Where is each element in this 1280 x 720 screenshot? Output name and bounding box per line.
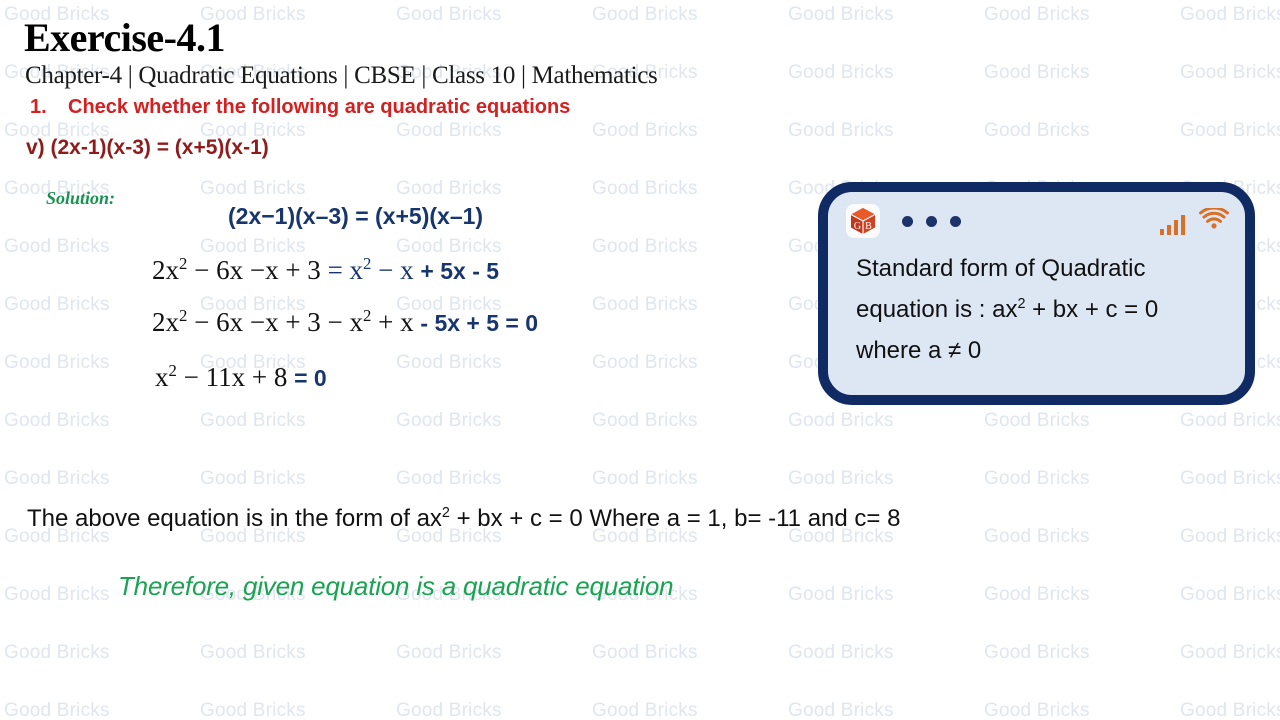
equation-line-1-right-bold: + 5x - 5 bbox=[420, 258, 499, 284]
wifi-icon bbox=[1199, 208, 1229, 235]
solution-label: Solution: bbox=[46, 188, 115, 209]
standard-form-callout: G B bbox=[818, 182, 1255, 405]
equation-line-1: 2x2 − 6x −x + 3 = x2 − x + 5x - 5 bbox=[152, 255, 499, 286]
equation-line-3: x2 − 11x + 8 = 0 bbox=[155, 362, 327, 393]
callout-text: Standard form of Quadratic equation is :… bbox=[856, 248, 1229, 371]
callout-line-1: Standard form of Quadratic bbox=[856, 248, 1229, 289]
sub-question: v) (2x-1)(x-3) = (x+5)(x-1) bbox=[26, 136, 269, 160]
equation-line-3-left: x2 − 11x + 8 bbox=[155, 362, 287, 392]
question-number: 1. bbox=[30, 96, 68, 119]
callout-line-2: equation is : ax2 + bx + c = 0 bbox=[856, 289, 1229, 330]
dot-icon-3 bbox=[950, 216, 961, 227]
question-text: Check whether the following are quadrati… bbox=[68, 96, 570, 118]
question-heading: 1.Check whether the following are quadra… bbox=[30, 96, 570, 119]
brand-logo-icon: G B bbox=[846, 204, 880, 238]
equation-line-1-left: 2x2 − 6x −x + 3 bbox=[152, 255, 321, 285]
svg-text:B: B bbox=[865, 221, 872, 232]
breadcrumb: Chapter-4 | Quadratic Equations | CBSE |… bbox=[25, 62, 657, 90]
dot-icon-2 bbox=[926, 216, 937, 227]
slide-canvas: Good BricksGood BricksGood BricksGood Br… bbox=[0, 0, 1280, 720]
equation-line-3-right-bold: = 0 bbox=[294, 365, 327, 391]
dots-group bbox=[902, 216, 961, 227]
equation-line-2-right-bold: - 5x + 5 = 0 bbox=[420, 310, 538, 336]
equation-line-2: 2x2 − 6x −x + 3 − x2 + x - 5x + 5 = 0 bbox=[152, 307, 538, 338]
callout-header: G B bbox=[846, 200, 1229, 242]
svg-text:G: G bbox=[854, 221, 861, 232]
signal-bars-icon bbox=[1160, 215, 1186, 235]
slide-content: Exercise-4.1 Chapter-4 | Quadratic Equat… bbox=[0, 0, 1280, 720]
callout-line-3: where a ≠ 0 bbox=[856, 330, 1229, 371]
restated-equation: (2x−1)(x–3) = (x+5)(x–1) bbox=[228, 203, 483, 230]
equation-line-1-right-serif: = x2 − x bbox=[328, 255, 414, 285]
status-icons bbox=[1160, 208, 1230, 235]
page-title: Exercise-4.1 bbox=[24, 14, 225, 61]
equation-line-2-left: 2x2 − 6x −x + 3 − x2 + x bbox=[152, 307, 414, 337]
conclusion-form-statement: The above equation is in the form of ax2… bbox=[27, 505, 900, 533]
dot-icon-1 bbox=[902, 216, 913, 227]
conclusion-final-statement: Therefore, given equation is a quadratic… bbox=[118, 571, 673, 602]
